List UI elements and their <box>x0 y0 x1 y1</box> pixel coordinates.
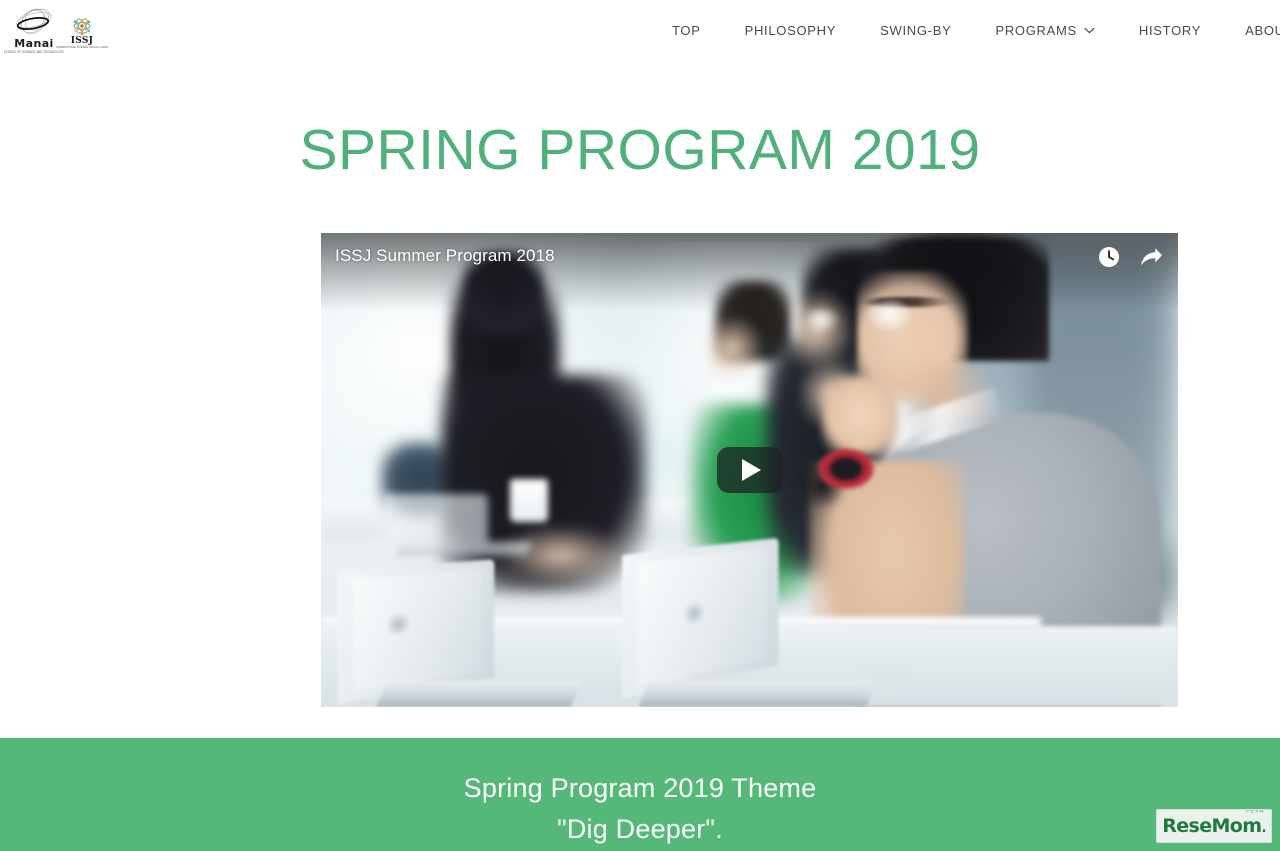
nav-label: HISTORY <box>1139 24 1201 37</box>
resemom-watermark: ReseMom. リセマム <box>1156 809 1272 843</box>
nav-item-top[interactable]: TOP <box>672 24 701 37</box>
nav-item-history[interactable]: HISTORY <box>1139 24 1201 37</box>
nav-label: SWING-BY <box>880 24 951 37</box>
manai-wordmark: Manai <box>14 38 53 49</box>
main-navigation: TOP PHILOSOPHY SWING-BY PROGRAMS HISTORY… <box>672 24 1280 37</box>
nav-item-about-us[interactable]: ABOUT US <box>1245 24 1280 37</box>
watermark-dot: . <box>1261 821 1265 836</box>
video-title[interactable]: ISSJ Summer Program 2018 <box>335 246 555 266</box>
brand-block[interactable]: Manai SCHOOL OF SCIENCE AND TECHNOLOGY I… <box>0 0 97 54</box>
theme-line-2: "Dig Deeper". <box>557 809 723 850</box>
issj-tagline: INTERNATIONAL SCIENCE SCHOOL JAPAN <box>56 47 108 50</box>
nav-label: ABOUT US <box>1245 24 1280 37</box>
theme-line-1: Spring Program 2019 Theme <box>464 768 817 809</box>
watermark-ruby: リセマム <box>1245 810 1264 815</box>
swirl-ellipse-icon <box>12 7 56 37</box>
nav-item-philosophy[interactable]: PHILOSOPHY <box>745 24 837 37</box>
nav-label: PHILOSOPHY <box>745 24 837 37</box>
share-arrow-icon[interactable] <box>1138 244 1164 270</box>
page-title: SPRING PROGRAM 2019 <box>0 122 1280 179</box>
chevron-down-icon <box>1084 27 1095 34</box>
nav-label: PROGRAMS <box>995 24 1076 37</box>
watermark-text: ReseMom <box>1162 815 1261 837</box>
play-icon <box>742 459 761 481</box>
nav-item-swing-by[interactable]: SWING-BY <box>880 24 951 37</box>
manai-tagline: SCHOOL OF SCIENCE AND TECHNOLOGY <box>4 51 64 55</box>
nav-item-programs[interactable]: PROGRAMS <box>995 24 1094 37</box>
video-player[interactable]: ISSJ Summer Program 2018 <box>321 233 1178 707</box>
issj-wordmark: ISSJ <box>71 37 93 46</box>
manai-logo[interactable]: Manai SCHOOL OF SCIENCE AND TECHNOLOGY <box>10 7 58 54</box>
issj-logo[interactable]: ISSJ INTERNATIONAL SCIENCE SCHOOL JAPAN <box>67 16 97 55</box>
clock-icon[interactable] <box>1096 244 1122 270</box>
atom-icon <box>71 16 93 36</box>
site-header: Manai SCHOOL OF SCIENCE AND TECHNOLOGY I… <box>0 0 1280 68</box>
nav-label: TOP <box>672 24 701 37</box>
video-actions <box>1096 244 1164 270</box>
theme-banner: Spring Program 2019 Theme "Dig Deeper". <box>0 738 1280 851</box>
watermark-logo: ReseMom. リセマム <box>1162 817 1266 836</box>
play-button[interactable] <box>717 447 783 493</box>
